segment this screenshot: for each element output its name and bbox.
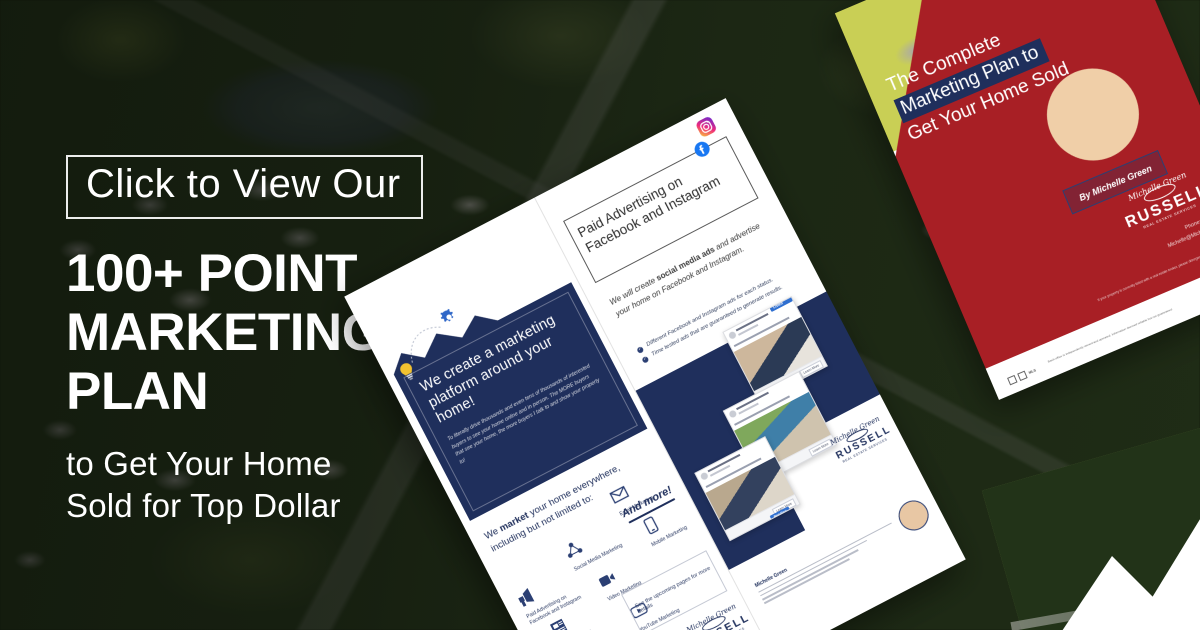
russell-logo-right-page: Michelle Green RUSSELL REAL ESTATE SERVI…: [829, 415, 891, 465]
network-icon: [562, 538, 585, 561]
phone-icon: [640, 514, 663, 537]
headline-line-1: 100+ POINT: [66, 244, 357, 303]
equal-housing-icon: [1007, 375, 1017, 385]
agent-headshot: [893, 495, 933, 535]
avatar: [728, 409, 737, 418]
megaphone-icon: [515, 586, 538, 609]
realtor-icon: [1017, 371, 1027, 381]
cta-label: Click to View Our: [86, 164, 401, 206]
avatar: [728, 331, 737, 340]
video-icon: [596, 568, 619, 591]
mls-logos-row: MLS: [1007, 366, 1037, 385]
newspaper-icon: [548, 616, 571, 630]
cta-button[interactable]: Click to View Our: [66, 155, 423, 219]
instagram-icon: [695, 115, 718, 138]
subhead-line-1: to Get Your Home: [66, 445, 332, 482]
avatar: [700, 471, 709, 480]
mls-label: MLS: [1028, 368, 1037, 375]
hero-banner[interactable]: Click to View Our 100+ POINT MARKETING P…: [0, 0, 1200, 630]
bio-line: [760, 540, 867, 597]
